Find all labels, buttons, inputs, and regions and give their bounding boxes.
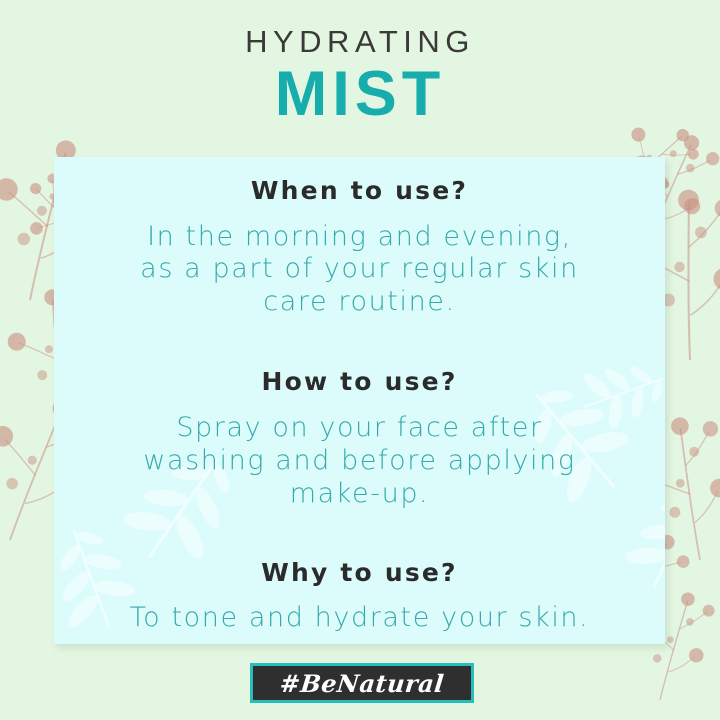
section-when-to-use: When to use? In the morning and evening,…	[76, 177, 643, 319]
page-header: HYDRATING MIST	[0, 0, 720, 157]
section-body: To tone and hydrate your skin.	[76, 602, 643, 635]
section-how-to-use: How to use? Spray on your face after was…	[76, 368, 643, 510]
content-card: When to use? In the morning and evening,…	[54, 157, 665, 644]
badge-label: #BeNatural	[278, 669, 445, 698]
body-line: In the morning and evening,	[76, 221, 643, 254]
section-body: In the morning and evening, as a part of…	[76, 221, 643, 320]
section-body: Spray on your face after washing and bef…	[76, 412, 643, 511]
body-line: care routine.	[76, 286, 643, 319]
page-title-top: HYDRATING	[0, 26, 720, 57]
section-heading: When to use?	[76, 177, 643, 205]
section-heading: Why to use?	[76, 559, 643, 587]
be-natural-badge: #BeNatural	[250, 663, 474, 703]
body-line: Spray on your face after	[76, 412, 643, 445]
section-why-to-use: Why to use? To tone and hydrate your ski…	[76, 559, 643, 635]
body-line: washing and before applying	[76, 445, 643, 478]
section-heading: How to use?	[76, 368, 643, 396]
body-line: make-up.	[76, 478, 643, 511]
body-line: To tone and hydrate your skin.	[76, 602, 643, 635]
page-title-main: MIST	[0, 61, 720, 127]
body-line: as a part of your regular skin	[76, 253, 643, 286]
